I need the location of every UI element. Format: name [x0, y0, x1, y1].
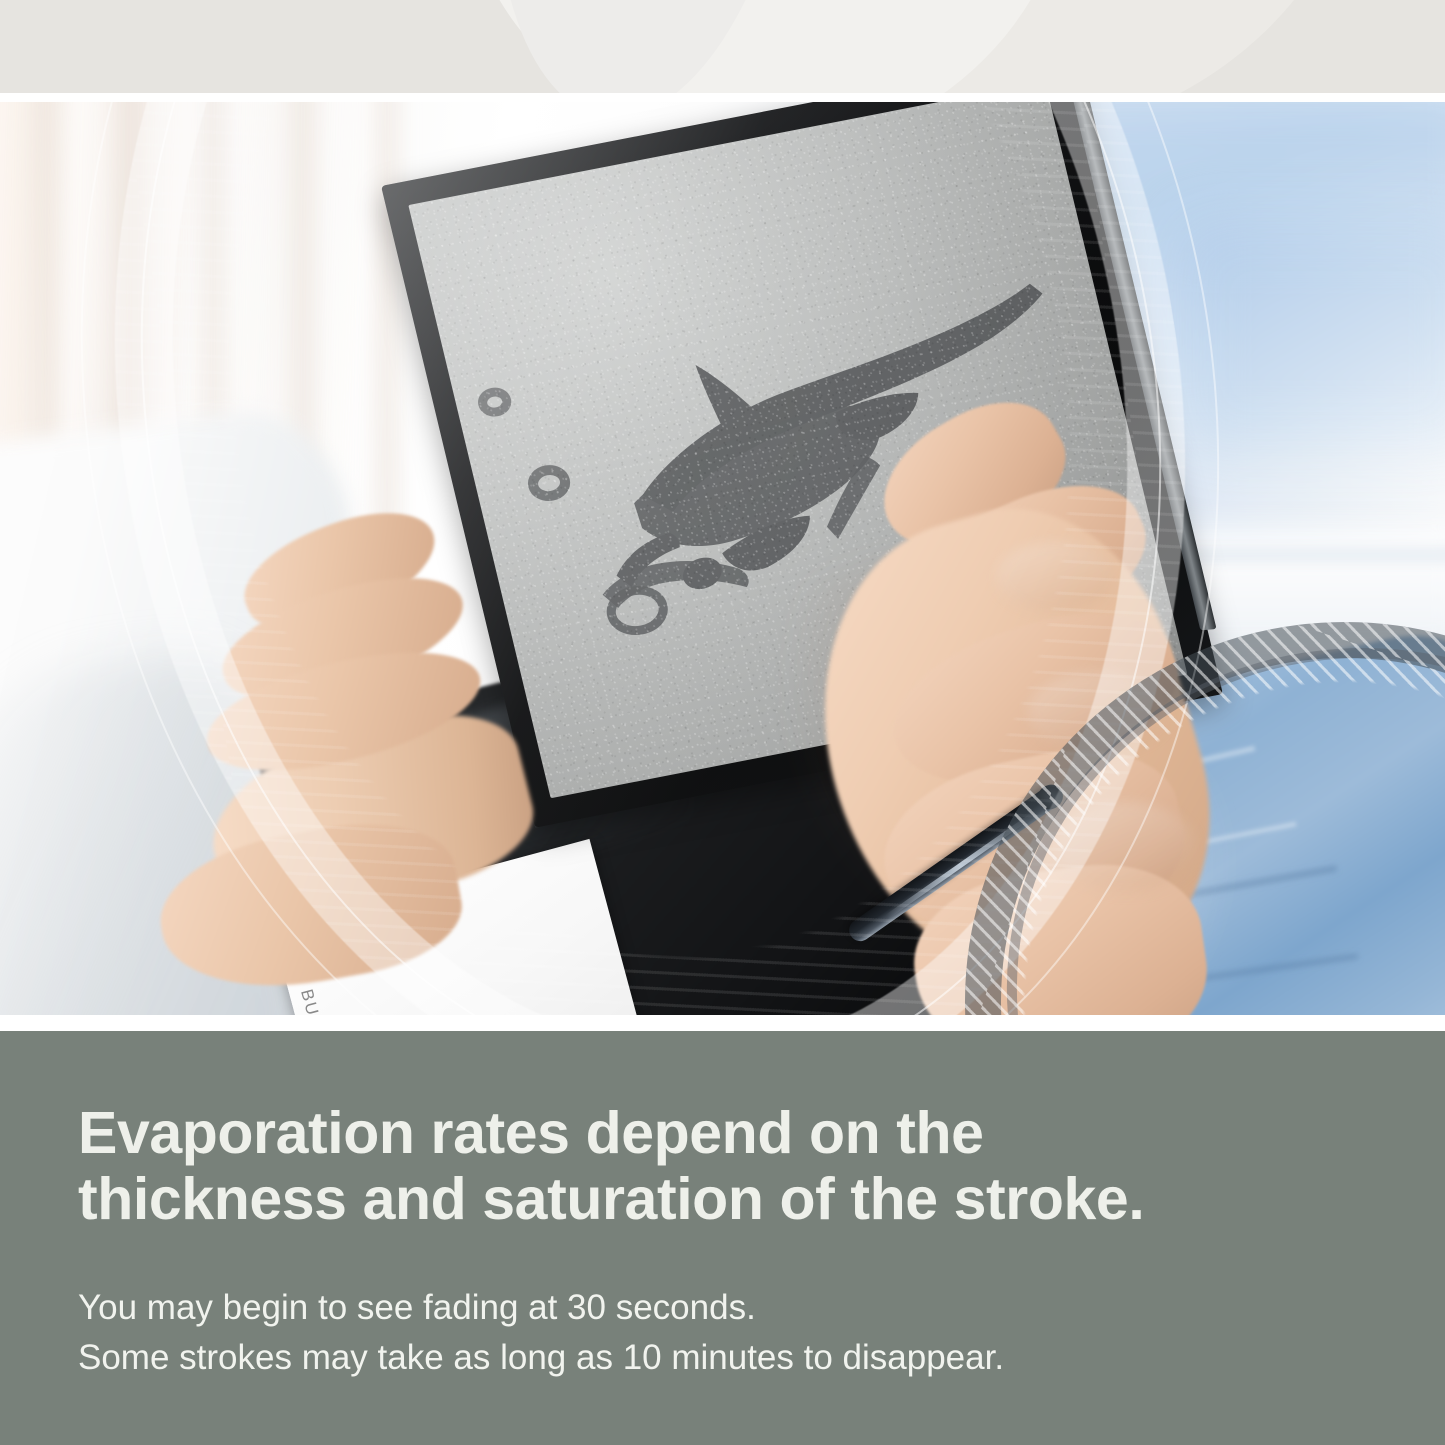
caption-subtext-line-1: You may begin to see fading at 30 second…: [78, 1288, 756, 1327]
right-hand-with-stylus: [760, 402, 1280, 1015]
knuckle-highlight-3: [1056, 802, 1196, 892]
caption-headline-line-2: thickness and saturation of the stroke.: [78, 1166, 1378, 1232]
product-infographic-page: BUDDHABOARD: [0, 0, 1445, 1445]
product-photo: BUDDHABOARD: [0, 102, 1445, 1015]
knuckle-highlight-2: [1028, 672, 1168, 752]
top-seam-divider: [0, 93, 1445, 102]
caption-subtext-line-2: Some strokes may take as long as 10 minu…: [78, 1333, 1398, 1383]
left-hand: [200, 532, 540, 1002]
caption-panel: [0, 1031, 1445, 1445]
knuckle-highlight-1: [996, 542, 1116, 612]
caption-subtext: You may begin to see fading at 30 second…: [78, 1283, 1398, 1382]
caption-headline: Evaporation rates depend on the thicknes…: [78, 1100, 1378, 1232]
caption-headline-line-1: Evaporation rates depend on the: [78, 1100, 984, 1166]
bottom-seam-divider: [0, 1015, 1445, 1031]
top-decorative-band: [0, 0, 1445, 93]
